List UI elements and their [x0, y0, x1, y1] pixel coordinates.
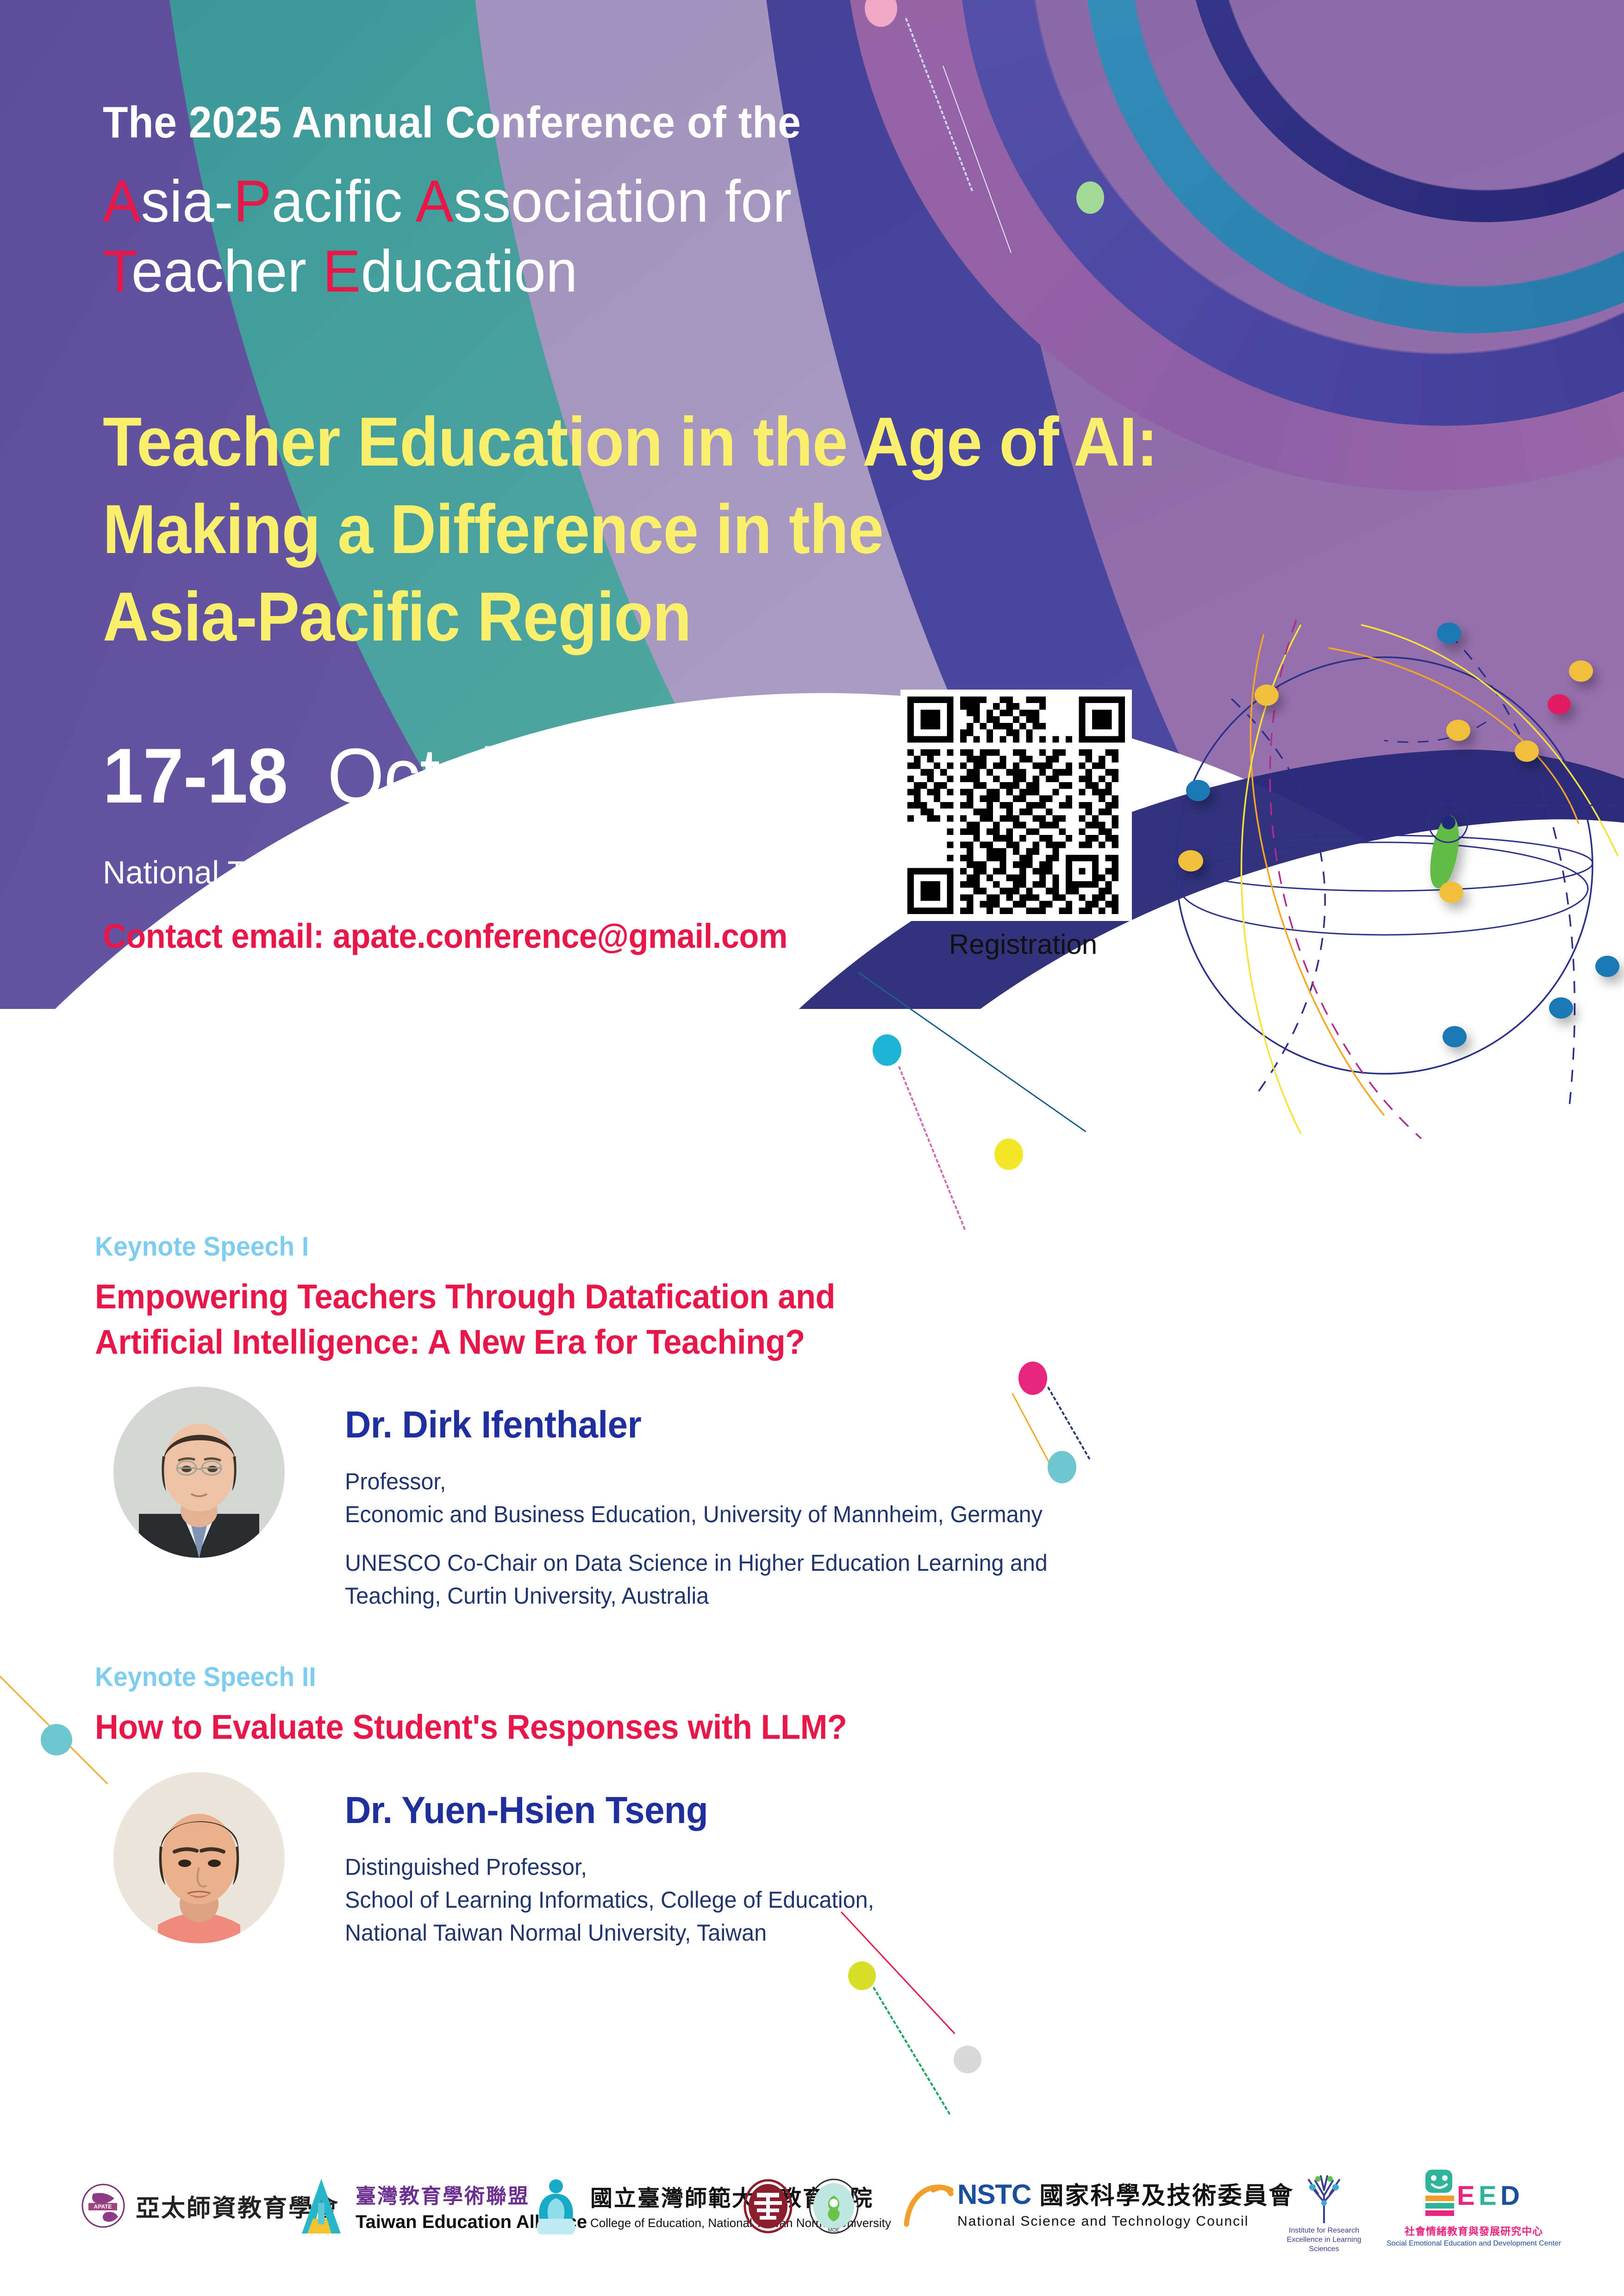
registration-qr-block[interactable]: Registration — [900, 690, 1146, 960]
speaker-1-aff-line-3: UNESCO Co-Chair on Data Science in Highe… — [345, 1547, 1048, 1580]
keynote-1-title-line-2: Artificial Intelligence: A New Era for T… — [95, 1319, 1018, 1365]
sponsor-logo-seed: E E D 社會情緒教育與發展研究中心 Social Emotional Edu… — [1387, 2167, 1561, 2248]
sponsor-logo-bar: APATE 亞太師資教育學會 臺灣教育學術聯盟 Taiwan Education… — [0, 2147, 1624, 2263]
speaker-2-aff-line-2: School of Learning Informatics, College … — [345, 1884, 874, 1916]
main-title-line-3: Asia-Pacific Region — [103, 573, 1157, 660]
speaker-1-name: Dr. Dirk Ifenthaler — [345, 1403, 1033, 1447]
sponsor-7-cn: 社會情緒教育與發展研究中心 — [1405, 2223, 1543, 2238]
sponsor-6-en: Institute for Research Excellence in Lea… — [1280, 2226, 1368, 2254]
keynote-1-label: Keynote Speech I — [95, 1231, 1018, 1262]
sponsor-logo-ntnu-seal — [743, 2179, 793, 2234]
speaker-2-aff-line-3: National Taiwan Normal University, Taiwa… — [345, 1916, 874, 1949]
speaker-1-portrait — [113, 1387, 285, 1558]
sponsor-logo-nstc: NSTC 國家科學及技術委員會 National Science and Tec… — [903, 2176, 1294, 2229]
keynote-2-label: Keynote Speech II — [95, 1661, 1018, 1692]
registration-label: Registration — [900, 928, 1146, 960]
qr-code[interactable] — [900, 690, 1132, 921]
speaker-1-avatar — [113, 1387, 285, 1558]
keynote-section-2: Keynote Speech II How to Evaluate Studen… — [95, 1661, 1067, 1949]
speaker-2-aff-line-1: Distinguished Professor, — [345, 1851, 874, 1884]
subtitle-suffix: Annual Conference of the — [282, 98, 801, 147]
moe-icon: MOE — [808, 2178, 860, 2234]
globe-network-graphic — [1162, 606, 1624, 1152]
event-date-days: 17-18 — [103, 732, 287, 819]
svg-text:E: E — [1479, 2181, 1497, 2211]
conference-poster: The 2025 Annual Conference of the Asia-P… — [0, 0, 1624, 2296]
ntnu-seal-icon — [743, 2179, 793, 2234]
speaker-2-avatar — [113, 1772, 285, 1943]
speaker-1-info: Dr. Dirk Ifenthaler Professor, Economic … — [345, 1387, 1069, 1612]
speaker-1-aff-line-1: Professor, — [345, 1465, 1048, 1498]
decor-dot-green — [1076, 181, 1104, 214]
keynote-2-speaker: Dr. Yuen-Hsien Tseng Distinguished Profe… — [95, 1772, 1067, 1949]
speaker-1-aff-line-2: Economic and Business Education, Univers… — [345, 1498, 1048, 1531]
keynote-1-speaker: Dr. Dirk Ifenthaler Professor, Economic … — [95, 1387, 1067, 1612]
association-line-2: Teacher Education — [103, 236, 824, 306]
keynote-2-title-line-1: How to Evaluate Student's Responses with… — [95, 1705, 1018, 1750]
svg-text:APATE: APATE — [94, 2203, 112, 2210]
sponsor-5-text: NSTC 國家科學及技術委員會 National Science and Tec… — [957, 2176, 1294, 2229]
decor-dot-teal-left — [41, 1724, 72, 1755]
speaker-1-aff-line-4: Teaching, Curtin University, Australia — [345, 1580, 1048, 1612]
conference-subtitle: The 2025 Annual Conference of the — [103, 97, 801, 148]
main-title-line-1: Teacher Education in the Age of AI: — [103, 398, 1157, 485]
keynote-1-title: Empowering Teachers Through Datafication… — [95, 1274, 1018, 1364]
subtitle-prefix: The — [103, 98, 189, 147]
speaker-1-affiliation: Professor, Economic and Business Educati… — [345, 1465, 1048, 1612]
speaker-2-info: Dr. Yuen-Hsien Tseng Distinguished Profe… — [345, 1772, 890, 1949]
keynote-1-title-line-1: Empowering Teachers Through Datafication… — [95, 1274, 1018, 1319]
event-venue: National Taiwan Normal University, Taipe… — [103, 854, 799, 891]
subtitle-year: 2025 — [189, 98, 282, 147]
svg-text:D: D — [1500, 2181, 1520, 2211]
irels-tree-icon — [1299, 2170, 1349, 2224]
header-block: The 2025 Annual Conference of the Asia-P… — [103, 97, 854, 306]
event-date-month: October — [327, 732, 584, 819]
decor-dot-lime — [848, 1961, 876, 1990]
speaker-2-portrait — [113, 1772, 285, 1943]
speaker-2-affiliation: Distinguished Professor, School of Learn… — [345, 1851, 874, 1949]
sponsor-logo-irels: Institute for Research Excellence in Lea… — [1280, 2170, 1368, 2254]
decor-dot-yellow — [994, 1139, 1023, 1170]
qr-code-svg — [907, 697, 1125, 914]
tea-mark-icon — [296, 2176, 347, 2235]
main-title: Teacher Education in the Age of AI: Maki… — [103, 398, 1157, 660]
keynote-2-title: How to Evaluate Student's Responses with… — [95, 1705, 1018, 1750]
nstc-abbrev: NSTC — [957, 2178, 1031, 2210]
seed-icon: E E D — [1421, 2167, 1527, 2222]
association-name: Asia-Pacific Association for Teacher Edu… — [103, 167, 824, 306]
keynote-section-1: Keynote Speech I Empowering Teachers Thr… — [95, 1231, 1067, 1612]
association-line-1: Asia-Pacific Association for — [103, 167, 824, 236]
sponsor-5-en: National Science and Technology Council — [957, 2214, 1294, 2229]
decor-dot-grey — [954, 2046, 981, 2073]
sponsor-5-top: NSTC 國家科學及技術委員會 — [957, 2176, 1294, 2211]
sponsor-7-en: Social Emotional Education and Developme… — [1387, 2240, 1561, 2248]
decor-dashed-line-2 — [898, 1065, 967, 1230]
svg-text:E: E — [1457, 2181, 1475, 2211]
sponsor-logo-moe: MOE — [808, 2178, 860, 2234]
ntnu-coe-icon — [530, 2174, 582, 2235]
speaker-2-name: Dr. Yuen-Hsien Tseng — [345, 1789, 863, 1832]
sponsor-5-cn: 國家科學及技術委員會 — [1039, 2176, 1294, 2211]
main-title-line-2: Making a Difference in the — [103, 485, 1157, 573]
svg-text:MOE: MOE — [828, 2228, 839, 2233]
contact-email[interactable]: Contact email: apate.conference@gmail.co… — [103, 916, 787, 956]
event-date: 17-18 October — [103, 731, 584, 821]
apate-globe-icon: APATE — [81, 2184, 125, 2228]
nstc-arc-icon — [903, 2178, 955, 2228]
globe-svg — [1162, 606, 1624, 1152]
decor-dot-cyan — [873, 1034, 901, 1066]
